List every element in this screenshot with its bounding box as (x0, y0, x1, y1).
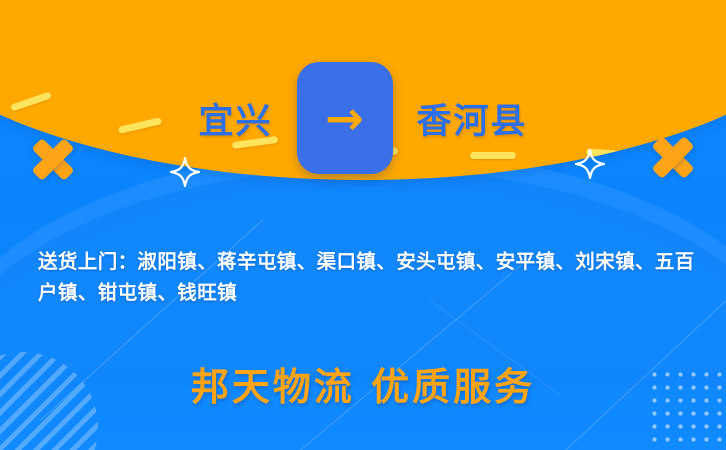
arrow-right-icon: → (325, 95, 364, 141)
x-cross-icon-right (650, 134, 696, 180)
destination-city-label: 香河县 (417, 93, 528, 144)
x-cross-icon-left (30, 136, 76, 182)
route-row: 宜兴 → 香河县 (0, 62, 726, 174)
logistics-route-banner: 宜兴 → 香河县 送货上门：淑阳镇、蒋辛屯镇、渠口镇、安头屯镇、安平镇、刘宋镇、… (0, 0, 726, 450)
sparkle-icon-right (575, 149, 605, 179)
sparkle-icon-left (170, 157, 200, 187)
route-arrow-button[interactable]: → (297, 62, 393, 174)
origin-city-label: 宜兴 (198, 93, 272, 144)
company-slogan: 邦天物流 优质服务 (0, 356, 726, 411)
delivery-area-text: 送货上门：淑阳镇、蒋辛屯镇、渠口镇、安头屯镇、安平镇、刘宋镇、五百户镇、钳屯镇、… (38, 246, 698, 308)
